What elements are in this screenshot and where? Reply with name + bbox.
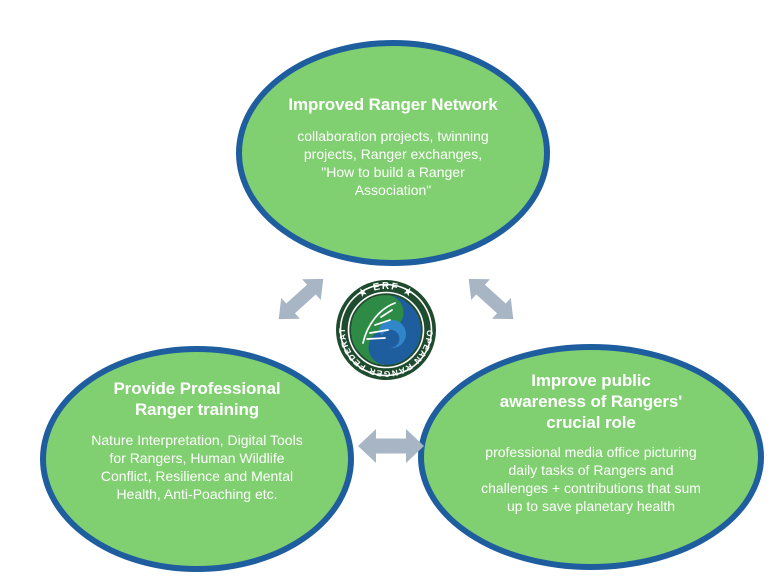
node-improved-ranger-network[interactable]: Improved Ranger Network collaboration pr… [236,40,550,266]
node-body: Nature Interpretation, Digital Tools for… [90,431,305,503]
erf-logo-icon[interactable]: ★ ERF ★ EUROPEAN RANGER FEDERATION [333,277,439,383]
node-body: professional media office picturing dail… [477,443,705,515]
double-headed-arrow-diagonal-icon [268,266,334,332]
node-title: Improved Ranger Network [288,94,498,115]
node-title: Improve public awareness of Rangers' cru… [489,370,694,433]
node-improve-public-awareness[interactable]: Improve public awareness of Rangers' cru… [418,344,764,570]
double-headed-arrow-horizontal-icon [356,418,426,474]
node-body: collaboration projects, twinning project… [293,127,493,199]
node-provide-professional-ranger-training[interactable]: Provide Professional Ranger training Nat… [40,346,354,572]
diagram-canvas: Improved Ranger Network collaboration pr… [0,0,772,585]
logo-emblem [351,295,421,365]
node-title: Provide Professional Ranger training [87,378,307,420]
double-headed-arrow-diagonal-icon [458,266,524,332]
